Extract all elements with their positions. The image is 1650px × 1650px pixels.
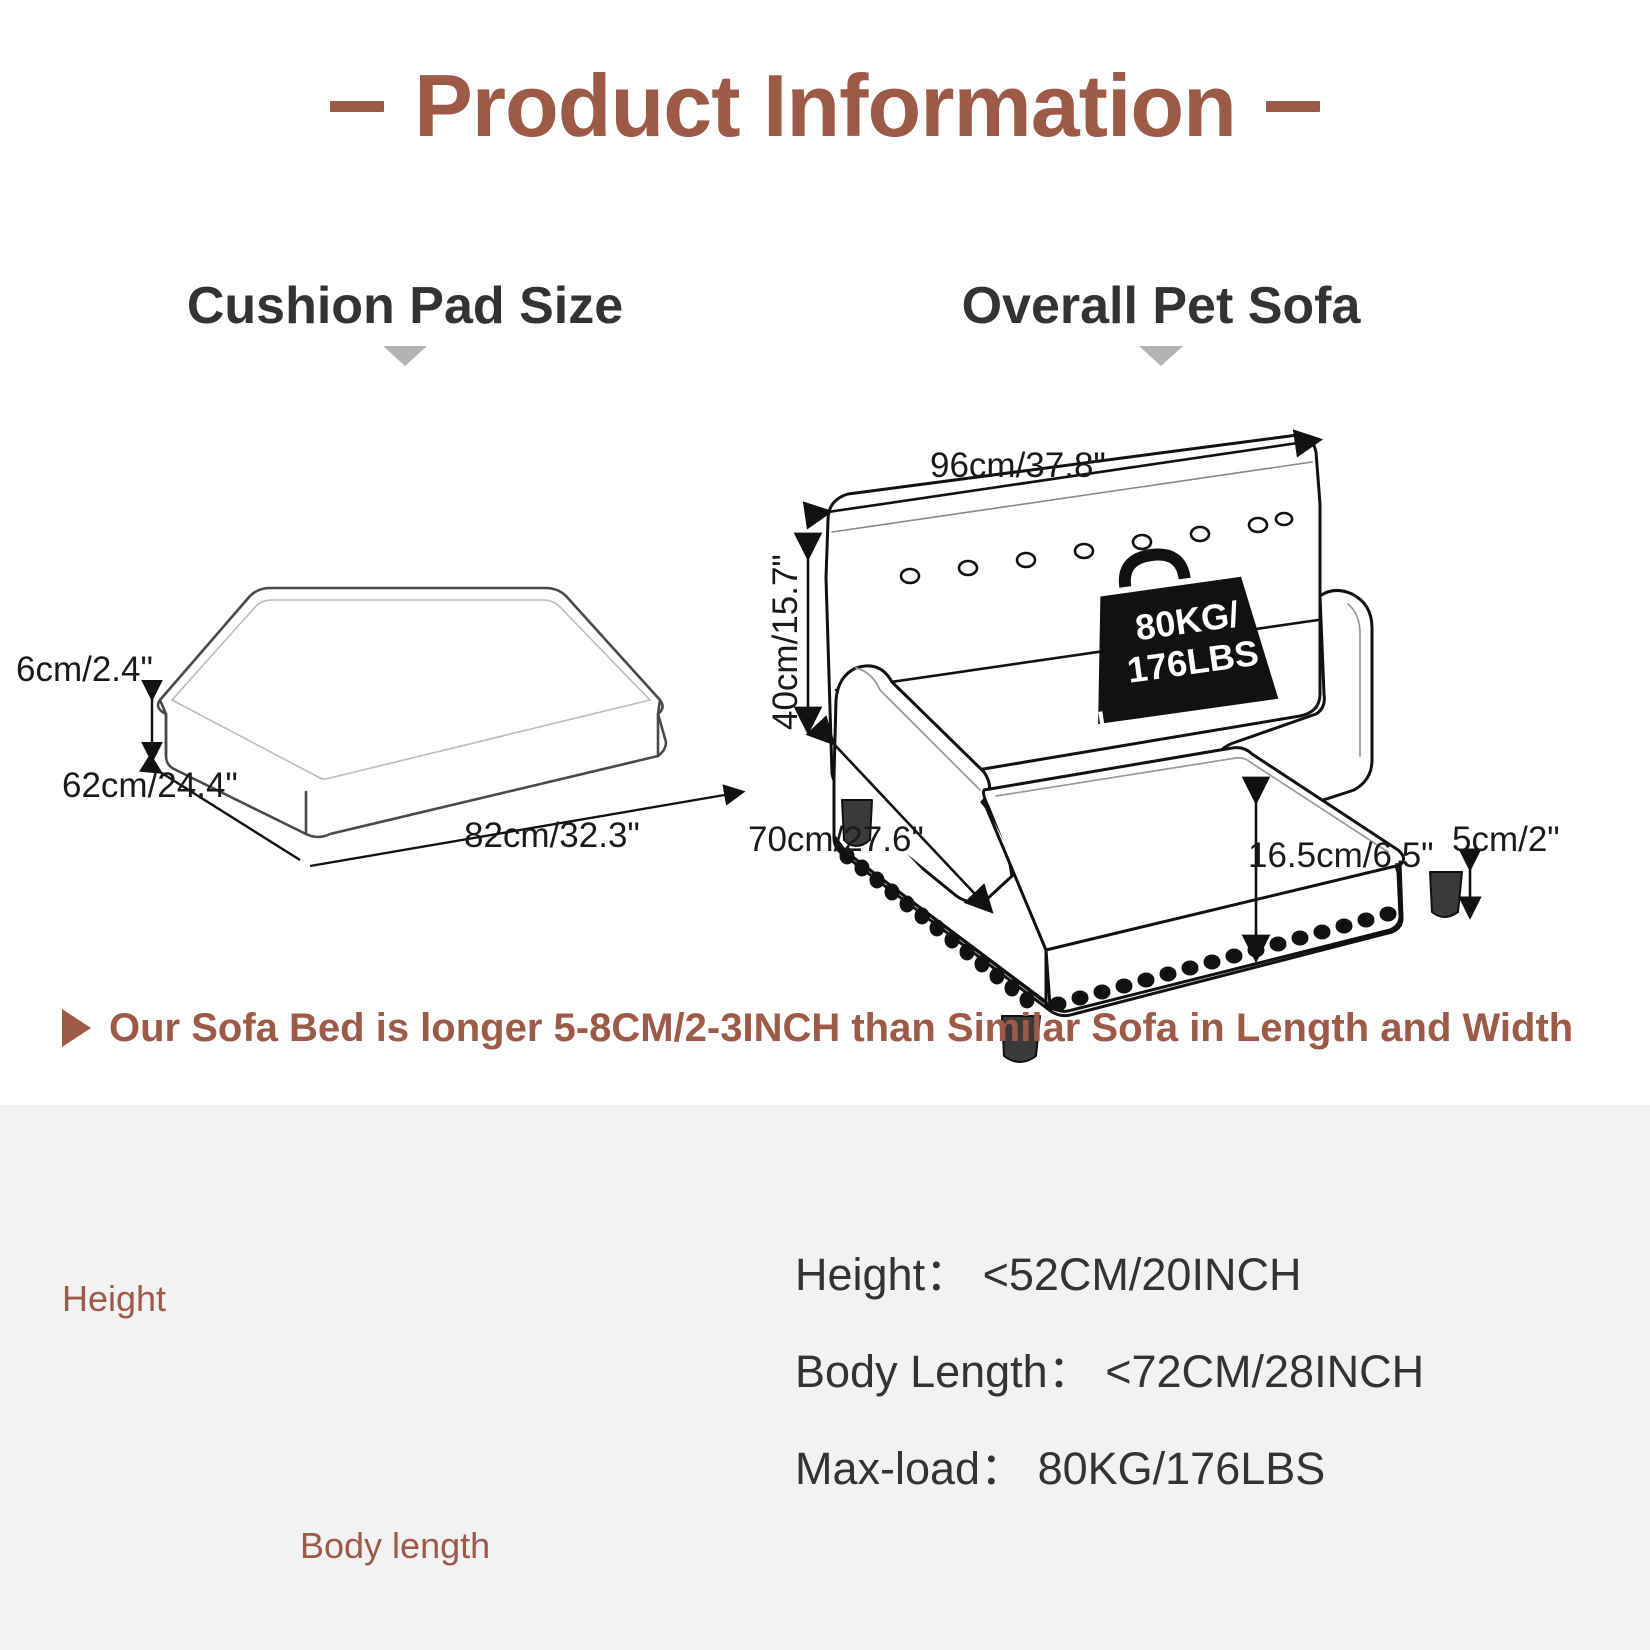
section-heading-sofa-label: Overall Pet Sofa bbox=[944, 280, 1378, 332]
pet-sofa-drawing bbox=[826, 435, 1462, 1062]
title-dash-right bbox=[1266, 101, 1320, 112]
cushion-depth-label: 62cm/24.4" bbox=[62, 768, 238, 803]
body-length-label: Body length bbox=[300, 1528, 490, 1564]
cushion-width-label: 82cm/32.3" bbox=[464, 818, 640, 853]
section-heading-sofa: Overall Pet Sofa bbox=[944, 280, 1378, 366]
sofa-leg-height-label: 5cm/2" bbox=[1452, 822, 1560, 857]
sofa-dimension-arrows bbox=[808, 440, 1470, 958]
weight-tag-line2: 176LBS bbox=[1101, 629, 1285, 695]
chevron-down-icon bbox=[1139, 346, 1183, 366]
sofa-depth-label: 70cm/27.6" bbox=[748, 822, 924, 857]
spec-item-body-length: Body Length： <72CM/28INCH bbox=[795, 1349, 1575, 1394]
sofa-seat-height-label: 16.5cm/6.5" bbox=[1248, 838, 1434, 873]
title-text: Product Information bbox=[414, 62, 1236, 150]
callout-banner: Our Sofa Bed is longer 5-8CM/2-3INCH tha… bbox=[62, 1008, 1602, 1048]
pet-spec-list: Height： <52CM/20INCH Body Length： <72CM/… bbox=[795, 1252, 1575, 1543]
cushion-thickness-label: 6cm/2.4" bbox=[16, 652, 153, 687]
weight-tag-label: 80KG/ 176LBS bbox=[1095, 588, 1285, 695]
sofa-width-label: 96cm/37.8" bbox=[930, 448, 1106, 483]
nailhead-studs-left bbox=[841, 849, 1033, 1007]
section-heading-cushion-label: Cushion Pad Size bbox=[172, 280, 638, 332]
sofa-height-label: 40cm/15.7" bbox=[768, 554, 803, 730]
height-label: Height bbox=[62, 1281, 166, 1317]
product-information-infographic: Product Information Cushion Pad Size Ove… bbox=[0, 0, 1650, 1650]
callout-text: Our Sofa Bed is longer 5-8CM/2-3INCH tha… bbox=[109, 1008, 1573, 1048]
title-dash-left bbox=[330, 101, 384, 112]
cushion-dimension-arrows bbox=[152, 698, 742, 866]
tufting-buttons bbox=[901, 513, 1292, 583]
section-heading-cushion: Cushion Pad Size bbox=[172, 280, 638, 366]
nailhead-studs-front bbox=[1051, 908, 1395, 1010]
page-title: Product Information bbox=[0, 62, 1650, 150]
chevron-down-icon bbox=[383, 346, 427, 366]
spec-item-height: Height： <52CM/20INCH bbox=[795, 1252, 1575, 1297]
play-triangle-icon bbox=[62, 1009, 91, 1047]
weight-tag-line1: 80KG/ bbox=[1095, 588, 1279, 654]
weight-tag-icon bbox=[1076, 540, 1279, 728]
spec-item-max-load: Max-load： 80KG/176LBS bbox=[795, 1446, 1575, 1491]
